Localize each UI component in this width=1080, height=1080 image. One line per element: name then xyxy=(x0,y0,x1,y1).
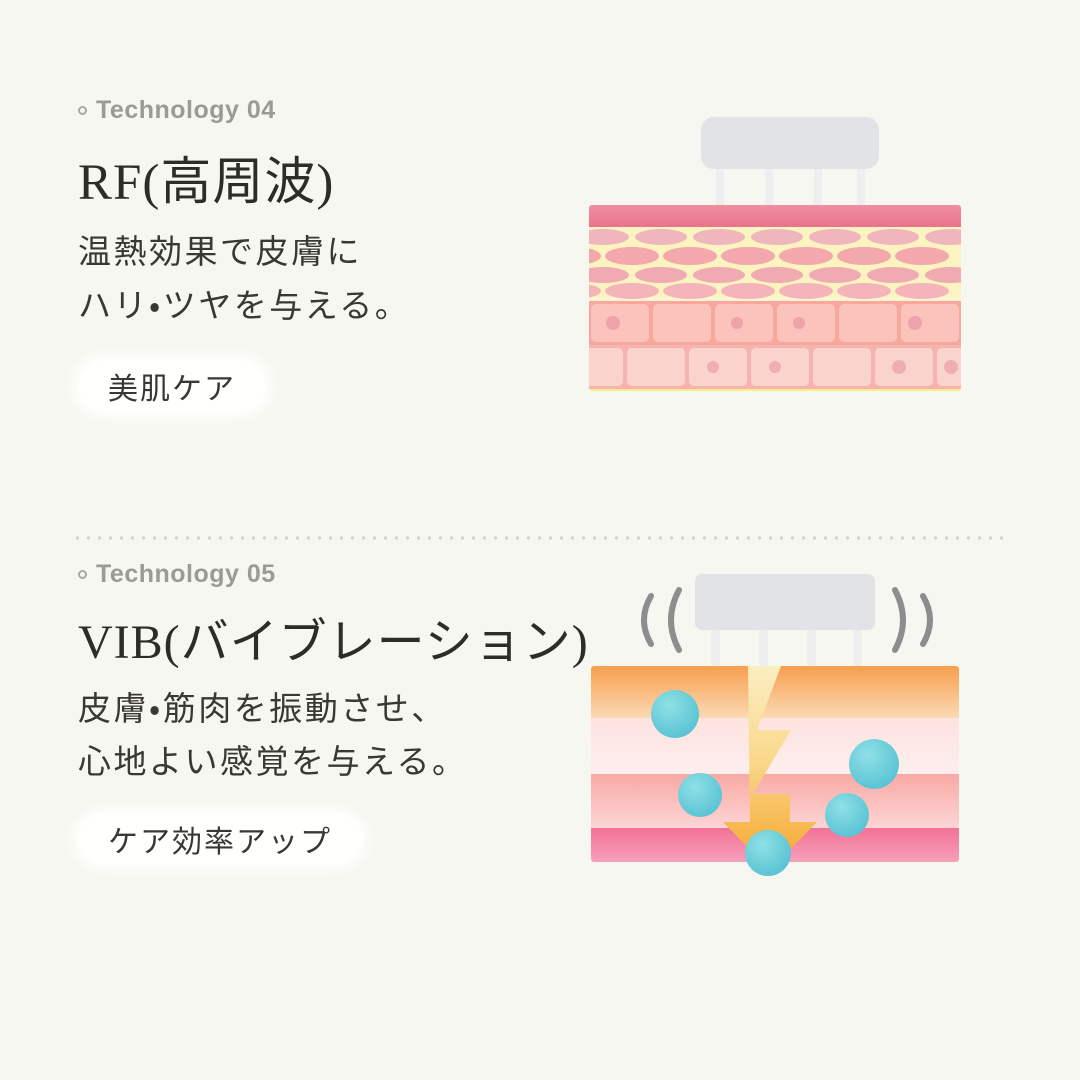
section-technology-04: Technology 04 RF(高周波) 温熱効果で皮膚に ハリ・ツヤを与える… xyxy=(0,96,1080,516)
rf-skin-layers xyxy=(585,205,985,445)
bubble xyxy=(825,793,869,837)
rf-badge: 美肌ケア xyxy=(78,360,266,412)
bubble xyxy=(651,690,699,738)
vib-text-column: Technology 05 VIB(バイブレーション) 皮膚・筋肉を振動させ、 … xyxy=(78,560,578,865)
vib-body-line-2: 心地よい感覚を与える。 xyxy=(78,737,578,790)
rf-eyebrow-label: Technology 04 xyxy=(96,96,276,125)
ring-icon xyxy=(78,106,87,115)
section-divider xyxy=(72,536,1010,540)
vib-body-copy: 皮膚・筋肉を振動させ、 心地よい感覚を与える。 xyxy=(78,684,578,791)
rf-layer-epidermis xyxy=(589,205,961,227)
rf-layer-oval-cells xyxy=(585,227,977,299)
page-root: Technology 04 RF(高周波) 温熱効果で皮膚に ハリ・ツヤを与える… xyxy=(0,0,1080,1080)
rf-body-line-2: ハリ・ツヤを与える。 xyxy=(78,281,578,334)
vib-badge: ケア効率アップ xyxy=(78,813,362,865)
vib-skin-cross-section-illustration xyxy=(585,570,985,970)
vib-device-head xyxy=(695,574,875,668)
bubble xyxy=(745,830,791,876)
bubble xyxy=(678,773,722,817)
rf-skin-cross-section-illustration xyxy=(585,111,985,511)
ring-icon xyxy=(78,570,87,579)
rf-body-copy: 温熱効果で皮膚に ハリ・ツヤを与える。 xyxy=(78,227,578,334)
rf-layer-dermis-bricks xyxy=(585,301,985,389)
rf-text-column: Technology 04 RF(高周波) 温熱効果で皮膚に ハリ・ツヤを与える… xyxy=(78,96,578,412)
vib-headline: VIB(バイブレーション) xyxy=(78,617,578,670)
rf-headline: RF(高周波) xyxy=(78,155,578,211)
rf-eyebrow: Technology 04 xyxy=(78,96,578,125)
vibration-mark-right xyxy=(895,590,930,650)
vib-eyebrow-label: Technology 05 xyxy=(96,560,276,589)
rf-layer-subcutaneous xyxy=(589,389,969,445)
rf-device-head xyxy=(701,117,879,207)
vib-body-line-1: 皮膚・筋肉を振動させ、 xyxy=(78,684,578,737)
bubble xyxy=(849,739,899,789)
section-technology-05: Technology 05 VIB(バイブレーション) 皮膚・筋肉を振動させ、 … xyxy=(0,560,1080,1000)
rf-body-line-1: 温熱効果で皮膚に xyxy=(78,227,578,280)
vibration-mark-left xyxy=(644,590,679,650)
vib-eyebrow: Technology 05 xyxy=(78,560,578,589)
vib-badge-wrap: ケア効率アップ xyxy=(78,813,578,865)
rf-badge-wrap: 美肌ケア xyxy=(78,360,578,412)
